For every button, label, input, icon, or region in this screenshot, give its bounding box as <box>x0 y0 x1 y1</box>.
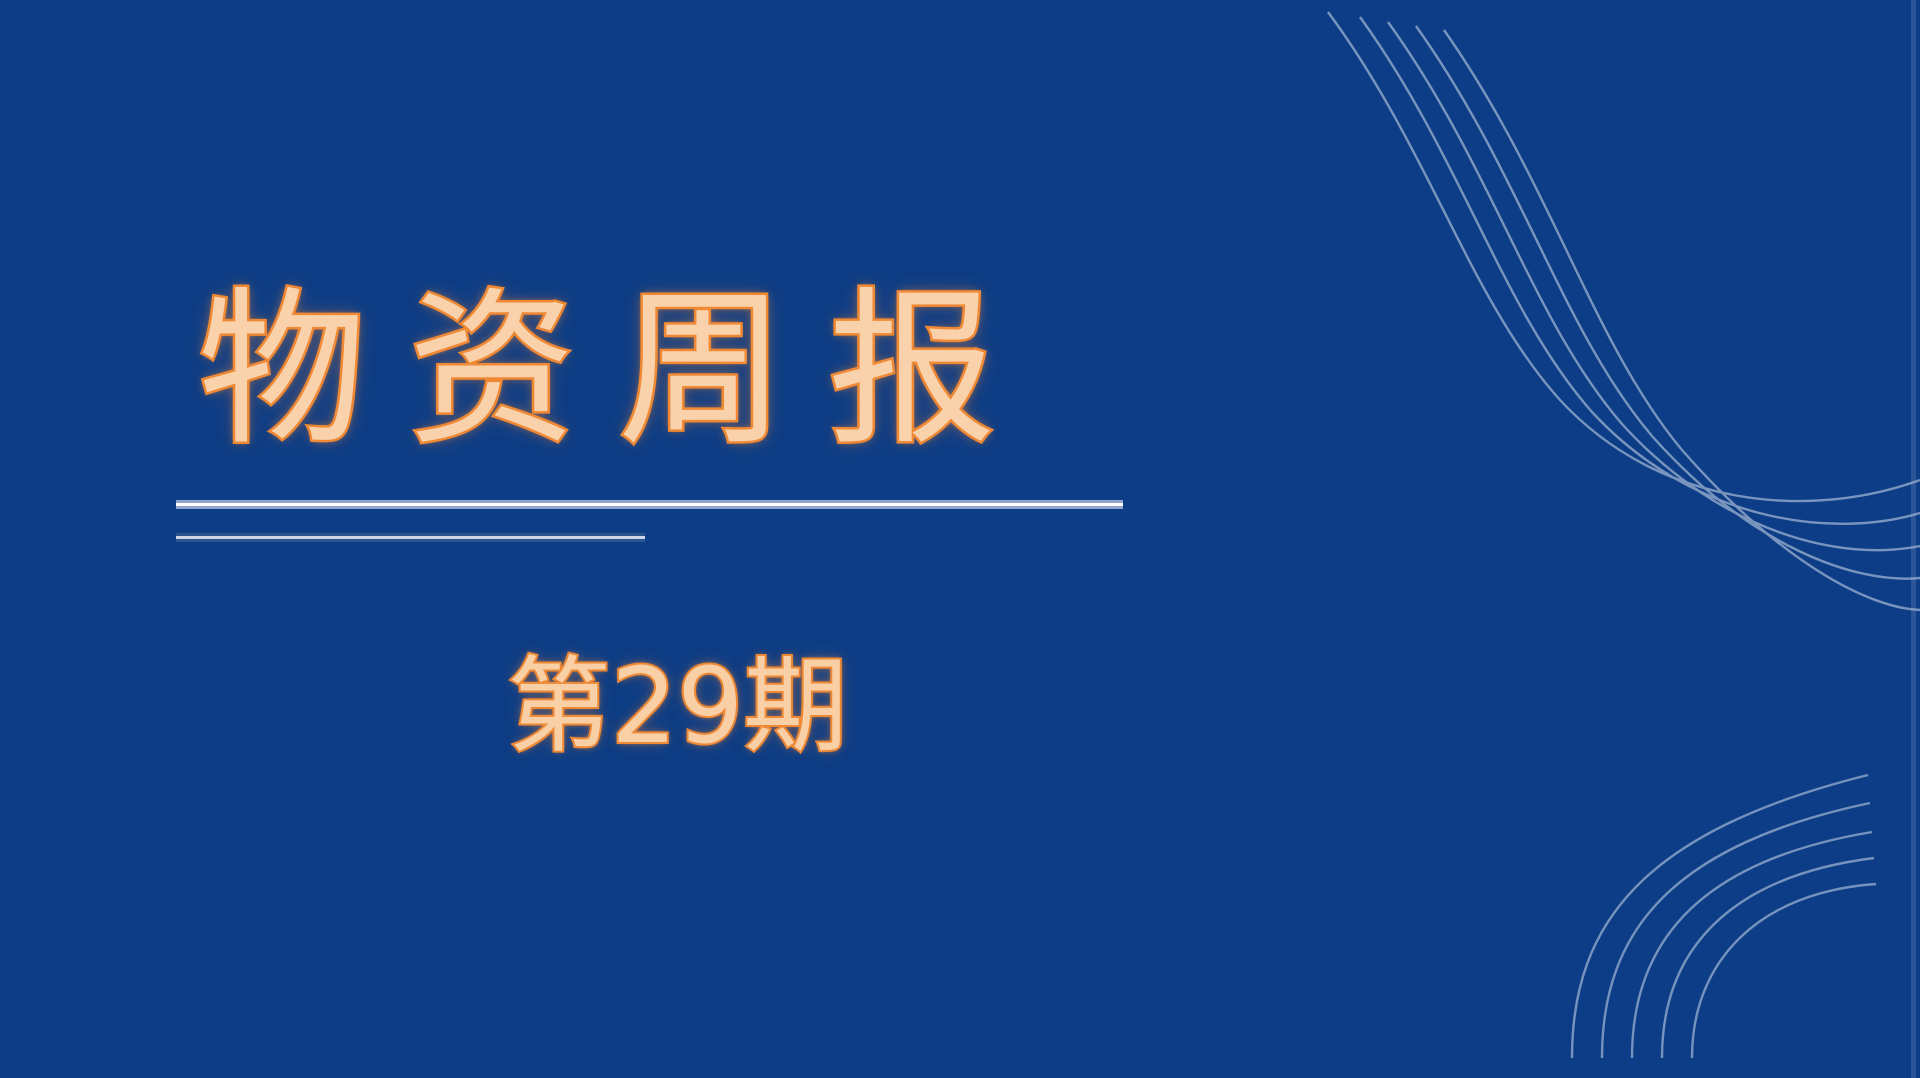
title-block: 物资周报 <box>176 286 1176 454</box>
title-slide: 物资周报 第29期 <box>0 0 1920 1078</box>
title-rule-long <box>176 500 1123 509</box>
page-title: 物资周报 <box>176 286 1176 454</box>
right-edge-band <box>1911 0 1916 1078</box>
title-rule-short <box>176 533 645 542</box>
issue-subtitle: 第29期 <box>507 647 847 767</box>
